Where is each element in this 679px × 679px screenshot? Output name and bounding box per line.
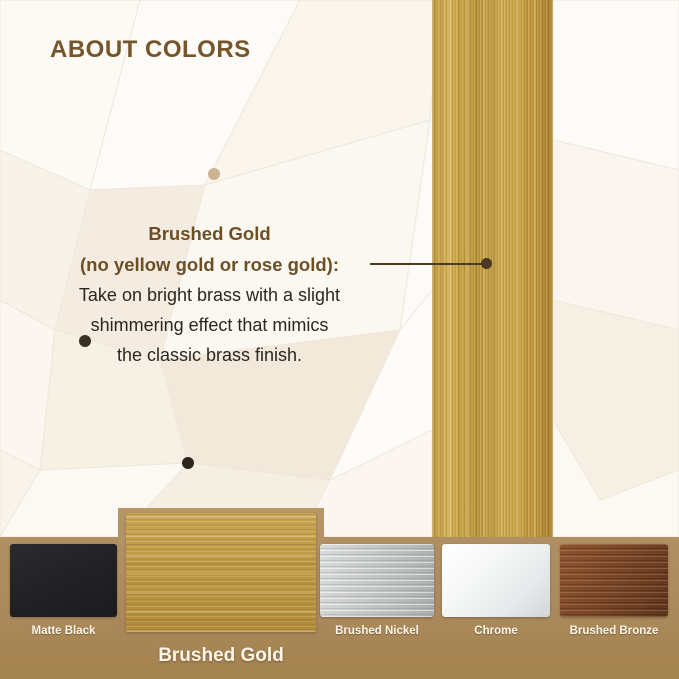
swatch-label-matte-black: Matte Black [10, 625, 117, 637]
callout-title-line-1: Brushed Gold [42, 218, 377, 249]
swatch-brushed-bronze[interactable] [560, 544, 668, 617]
decorative-dot-mid [79, 335, 91, 347]
callout-body-line-1: Take on bright brass with a slight [42, 280, 377, 310]
swatch-matte-black[interactable] [10, 544, 117, 617]
swatch-label-brushed-bronze: Brushed Bronze [560, 625, 668, 637]
callout-title-line-2: (no yellow gold or rose gold): [42, 249, 377, 280]
swatch-brushed-nickel[interactable] [320, 544, 434, 617]
brushed-gold-panel [432, 0, 553, 537]
callout-text-block: Brushed Gold (no yellow gold or rose gol… [42, 218, 377, 370]
callout-body-line-2: shimmering effect that mimics [42, 310, 377, 340]
swatch-label-chrome: Chrome [442, 625, 550, 637]
swatch-label-brushed-nickel: Brushed Nickel [320, 625, 434, 637]
decorative-dot-tan [208, 168, 220, 180]
swatch-label-brushed-gold: Brushed Gold [118, 645, 324, 667]
decorative-dot-lower [182, 457, 194, 469]
callout-leader-end-dot [481, 258, 492, 269]
callout-leader-line [370, 263, 487, 265]
product-color-infographic: ABOUT COLORS Brushed Gold (no yellow gol… [0, 0, 679, 679]
page-title: ABOUT COLORS [50, 36, 251, 64]
swatch-chrome[interactable] [442, 544, 550, 617]
swatch-brushed-gold[interactable] [126, 513, 316, 632]
callout-body-line-3: the classic brass finish. [42, 340, 377, 370]
